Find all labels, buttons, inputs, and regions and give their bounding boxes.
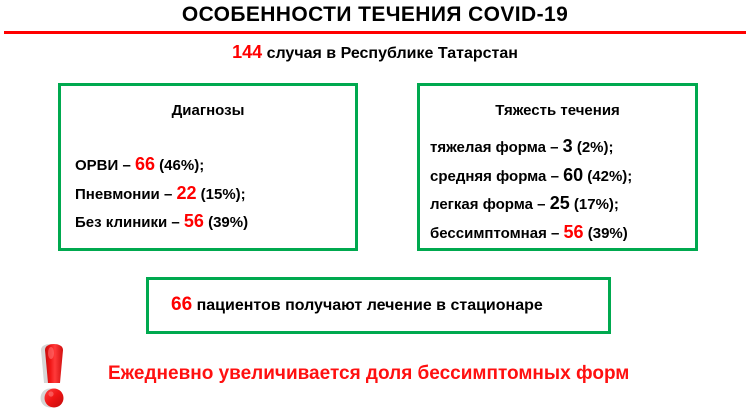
hospitalized-text: пациентов получают лечение в стационаре [192, 297, 543, 314]
diagnosis-row: ОРВИ – 66 (46%); [75, 151, 248, 180]
diagnosis-label: ОРВИ [75, 157, 118, 174]
severity-dash: – [547, 225, 564, 242]
diagnosis-label: Пневмонии [75, 186, 160, 203]
diagnosis-count: 22 [176, 183, 196, 203]
severity-percent: (2%); [573, 139, 614, 156]
diagnoses-heading: Диагнозы [61, 102, 355, 119]
severity-label: бессимптомная [430, 225, 547, 242]
severity-row: средняя форма – 60 (42%); [430, 162, 632, 191]
diagnosis-dash: – [118, 157, 135, 174]
title-divider [4, 31, 746, 34]
hospitalized-line: 66 пациентов получают лечение в стациона… [171, 294, 543, 316]
severity-percent: (17%); [570, 196, 619, 213]
diagnosis-count: 66 [135, 154, 155, 174]
severity-count: 25 [550, 193, 570, 213]
diagnosis-dash: – [167, 214, 184, 231]
slide-canvas: ОСОБЕННОСТИ ТЕЧЕНИЯ COVID-19 144 случая … [0, 0, 750, 417]
diagnoses-panel: Диагнозы ОРВИ – 66 (46%);Пневмонии – 22 … [58, 83, 358, 251]
severity-count: 60 [563, 165, 583, 185]
severity-dash: – [546, 168, 563, 185]
severity-label: тяжелая форма [430, 139, 546, 156]
severity-dash: – [533, 196, 550, 213]
footer-warning-text: Ежедневно увеличивается доля бессимптомн… [108, 363, 629, 385]
severity-row: тяжелая форма – 3 (2%); [430, 133, 632, 162]
severity-percent: (42%); [583, 168, 632, 185]
diagnosis-percent: (46%); [155, 157, 204, 174]
diagnoses-list: ОРВИ – 66 (46%);Пневмонии – 22 (15%);Без… [75, 151, 248, 237]
subtitle-total-cases: 144 [232, 42, 262, 62]
diagnosis-percent: (15%); [197, 186, 246, 203]
severity-label: средняя форма [430, 168, 546, 185]
diagnosis-count: 56 [184, 211, 204, 231]
exclamation-mark-icon [28, 343, 80, 411]
diagnosis-row: Без клиники – 56 (39%) [75, 208, 248, 237]
diagnosis-row: Пневмонии – 22 (15%); [75, 180, 248, 209]
severity-panel: Тяжесть течения тяжелая форма – 3 (2%);с… [417, 83, 698, 251]
hospitalized-panel: 66 пациентов получают лечение в стациона… [146, 277, 611, 334]
severity-dash: – [546, 139, 563, 156]
diagnosis-percent: (39%) [204, 214, 248, 231]
severity-row: легкая форма – 25 (17%); [430, 190, 632, 219]
severity-count: 3 [563, 136, 573, 156]
diagnosis-dash: – [160, 186, 177, 203]
severity-label: легкая форма [430, 196, 533, 213]
subtitle-text: случая в Республике Татарстан [262, 45, 518, 62]
diagnosis-label: Без клиники [75, 214, 167, 231]
severity-list: тяжелая форма – 3 (2%);средняя форма – 6… [430, 133, 632, 247]
severity-heading: Тяжесть течения [420, 102, 695, 119]
page-title: ОСОБЕННОСТИ ТЕЧЕНИЯ COVID-19 [0, 3, 750, 27]
severity-row: бессимптомная – 56 (39%) [430, 219, 632, 248]
subtitle: 144 случая в Республике Татарстан [0, 42, 750, 63]
severity-count: 56 [564, 222, 584, 242]
hospitalized-count: 66 [171, 294, 192, 315]
severity-percent: (39%) [584, 225, 628, 242]
